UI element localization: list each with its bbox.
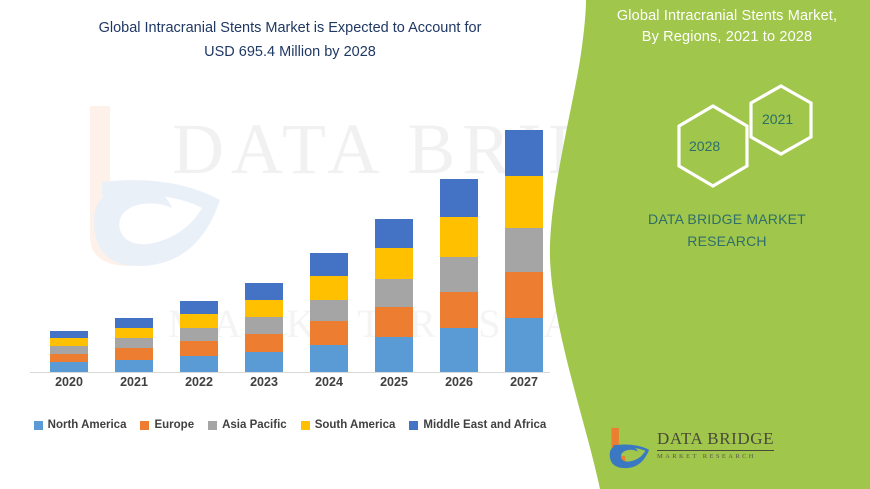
legend-swatch: [140, 421, 149, 430]
hexagon-2028-label: 2028: [689, 138, 720, 154]
stacked-bar: [505, 130, 543, 372]
bar-group: [36, 110, 102, 372]
bar-segment: [245, 300, 283, 317]
stacked-bar: [245, 283, 283, 372]
x-axis-label: 2027: [491, 375, 557, 389]
stacked-bar: [180, 301, 218, 372]
logo-primary-text: DATA BRIDGE: [657, 429, 774, 451]
legend-swatch: [34, 421, 43, 430]
bar-group: [166, 110, 232, 372]
bar-group: [426, 110, 492, 372]
bar-group: [101, 110, 167, 372]
x-axis-label: 2020: [36, 375, 102, 389]
bar-segment: [115, 318, 153, 328]
bar-segment: [180, 356, 218, 372]
bar-segment: [505, 176, 543, 228]
bar-segment: [375, 248, 413, 279]
chart-title-line-1: Global Intracranial Stents Market is Exp…: [30, 16, 550, 40]
chart-legend: North AmericaEuropeAsia PacificSouth Ame…: [0, 419, 580, 431]
bar-segment: [180, 314, 218, 328]
bar-segment: [50, 354, 88, 363]
panel-title-line-1: Global Intracranial Stents Market,: [588, 6, 866, 27]
bar-segment: [50, 346, 88, 354]
legend-label: South America: [315, 419, 396, 431]
bar-segment: [115, 328, 153, 338]
bar-segment: [440, 328, 478, 372]
bar-segment: [180, 328, 218, 341]
bar-segment: [180, 301, 218, 314]
logo-wordmark: DATA BRIDGE MARKET RESEARCH: [657, 429, 793, 460]
legend-item[interactable]: North America: [34, 419, 127, 431]
bar-segment: [180, 341, 218, 356]
bar-segment: [245, 334, 283, 352]
bar-segment: [245, 352, 283, 372]
infographic-canvas: DATA BRIDGE MARKET RESEARCH Global Intra…: [0, 0, 870, 489]
legend-label: Asia Pacific: [222, 419, 287, 431]
bar-segment: [310, 276, 348, 300]
legend-item[interactable]: Europe: [140, 419, 194, 431]
panel-brand-line-2: RESEARCH: [590, 230, 864, 252]
x-axis-label: 2025: [361, 375, 427, 389]
logo-secondary-text: MARKET RESEARCH: [657, 453, 793, 460]
x-axis-label: 2022: [166, 375, 232, 389]
bar-segment: [505, 228, 543, 272]
chart-area: Global Intracranial Stents Market is Exp…: [0, 0, 580, 489]
bar-segment: [310, 300, 348, 322]
bar-segment: [375, 279, 413, 307]
x-axis-line: [30, 372, 550, 373]
bar-group: [296, 110, 362, 372]
bar-segment: [440, 217, 478, 257]
legend-label: North America: [48, 419, 127, 431]
legend-label: Middle East and Africa: [423, 419, 546, 431]
x-axis-label: 2021: [101, 375, 167, 389]
bar-group: [491, 110, 557, 372]
x-axis-label: 2026: [426, 375, 492, 389]
bar-segment: [115, 338, 153, 348]
logo-mark-icon: [605, 426, 651, 470]
legend-swatch: [301, 421, 310, 430]
x-axis-label: 2024: [296, 375, 362, 389]
stacked-bar: [375, 219, 413, 372]
bar-segment: [50, 362, 88, 372]
bar-segment: [115, 360, 153, 372]
stacked-bar: [115, 318, 153, 372]
bar-segment: [375, 337, 413, 372]
hexagon-group: 2028 2021: [665, 80, 870, 195]
bar-segment: [505, 130, 543, 176]
stacked-bar: [50, 331, 88, 372]
stacked-bar-plot: [0, 110, 580, 372]
stacked-bar: [310, 253, 348, 372]
panel-title-line-2: By Regions, 2021 to 2028: [588, 27, 866, 48]
chart-title-line-2: USD 695.4 Million by 2028: [30, 40, 550, 64]
company-logo: DATA BRIDGE MARKET RESEARCH: [605, 424, 795, 472]
bar-segment: [505, 272, 543, 318]
legend-item[interactable]: Asia Pacific: [208, 419, 287, 431]
bar-segment: [310, 345, 348, 372]
legend-label: Europe: [154, 419, 194, 431]
legend-item[interactable]: Middle East and Africa: [409, 419, 546, 431]
panel-title: Global Intracranial Stents Market, By Re…: [588, 6, 866, 48]
bar-segment: [505, 318, 543, 372]
panel-brand-line-1: DATA BRIDGE MARKET: [590, 208, 864, 230]
legend-swatch: [208, 421, 217, 430]
bar-segment: [440, 292, 478, 329]
bar-segment: [245, 317, 283, 334]
panel-brand-text: DATA BRIDGE MARKET RESEARCH: [590, 208, 864, 252]
bar-segment: [50, 331, 88, 338]
hexagon-2021-label: 2021: [762, 111, 793, 127]
bar-segment: [115, 348, 153, 359]
bar-segment: [440, 179, 478, 217]
chart-title: Global Intracranial Stents Market is Exp…: [30, 16, 550, 64]
legend-item[interactable]: South America: [301, 419, 396, 431]
legend-swatch: [409, 421, 418, 430]
bar-segment: [440, 257, 478, 292]
stacked-bar: [440, 179, 478, 372]
x-axis-label: 2023: [231, 375, 297, 389]
bar-segment: [375, 307, 413, 337]
bar-group: [361, 110, 427, 372]
bar-segment: [245, 283, 283, 300]
bar-segment: [310, 253, 348, 276]
green-panel: Global Intracranial Stents Market, By Re…: [580, 0, 870, 489]
bar-segment: [310, 321, 348, 345]
bar-segment: [375, 219, 413, 248]
bar-segment: [50, 338, 88, 346]
bar-group: [231, 110, 297, 372]
